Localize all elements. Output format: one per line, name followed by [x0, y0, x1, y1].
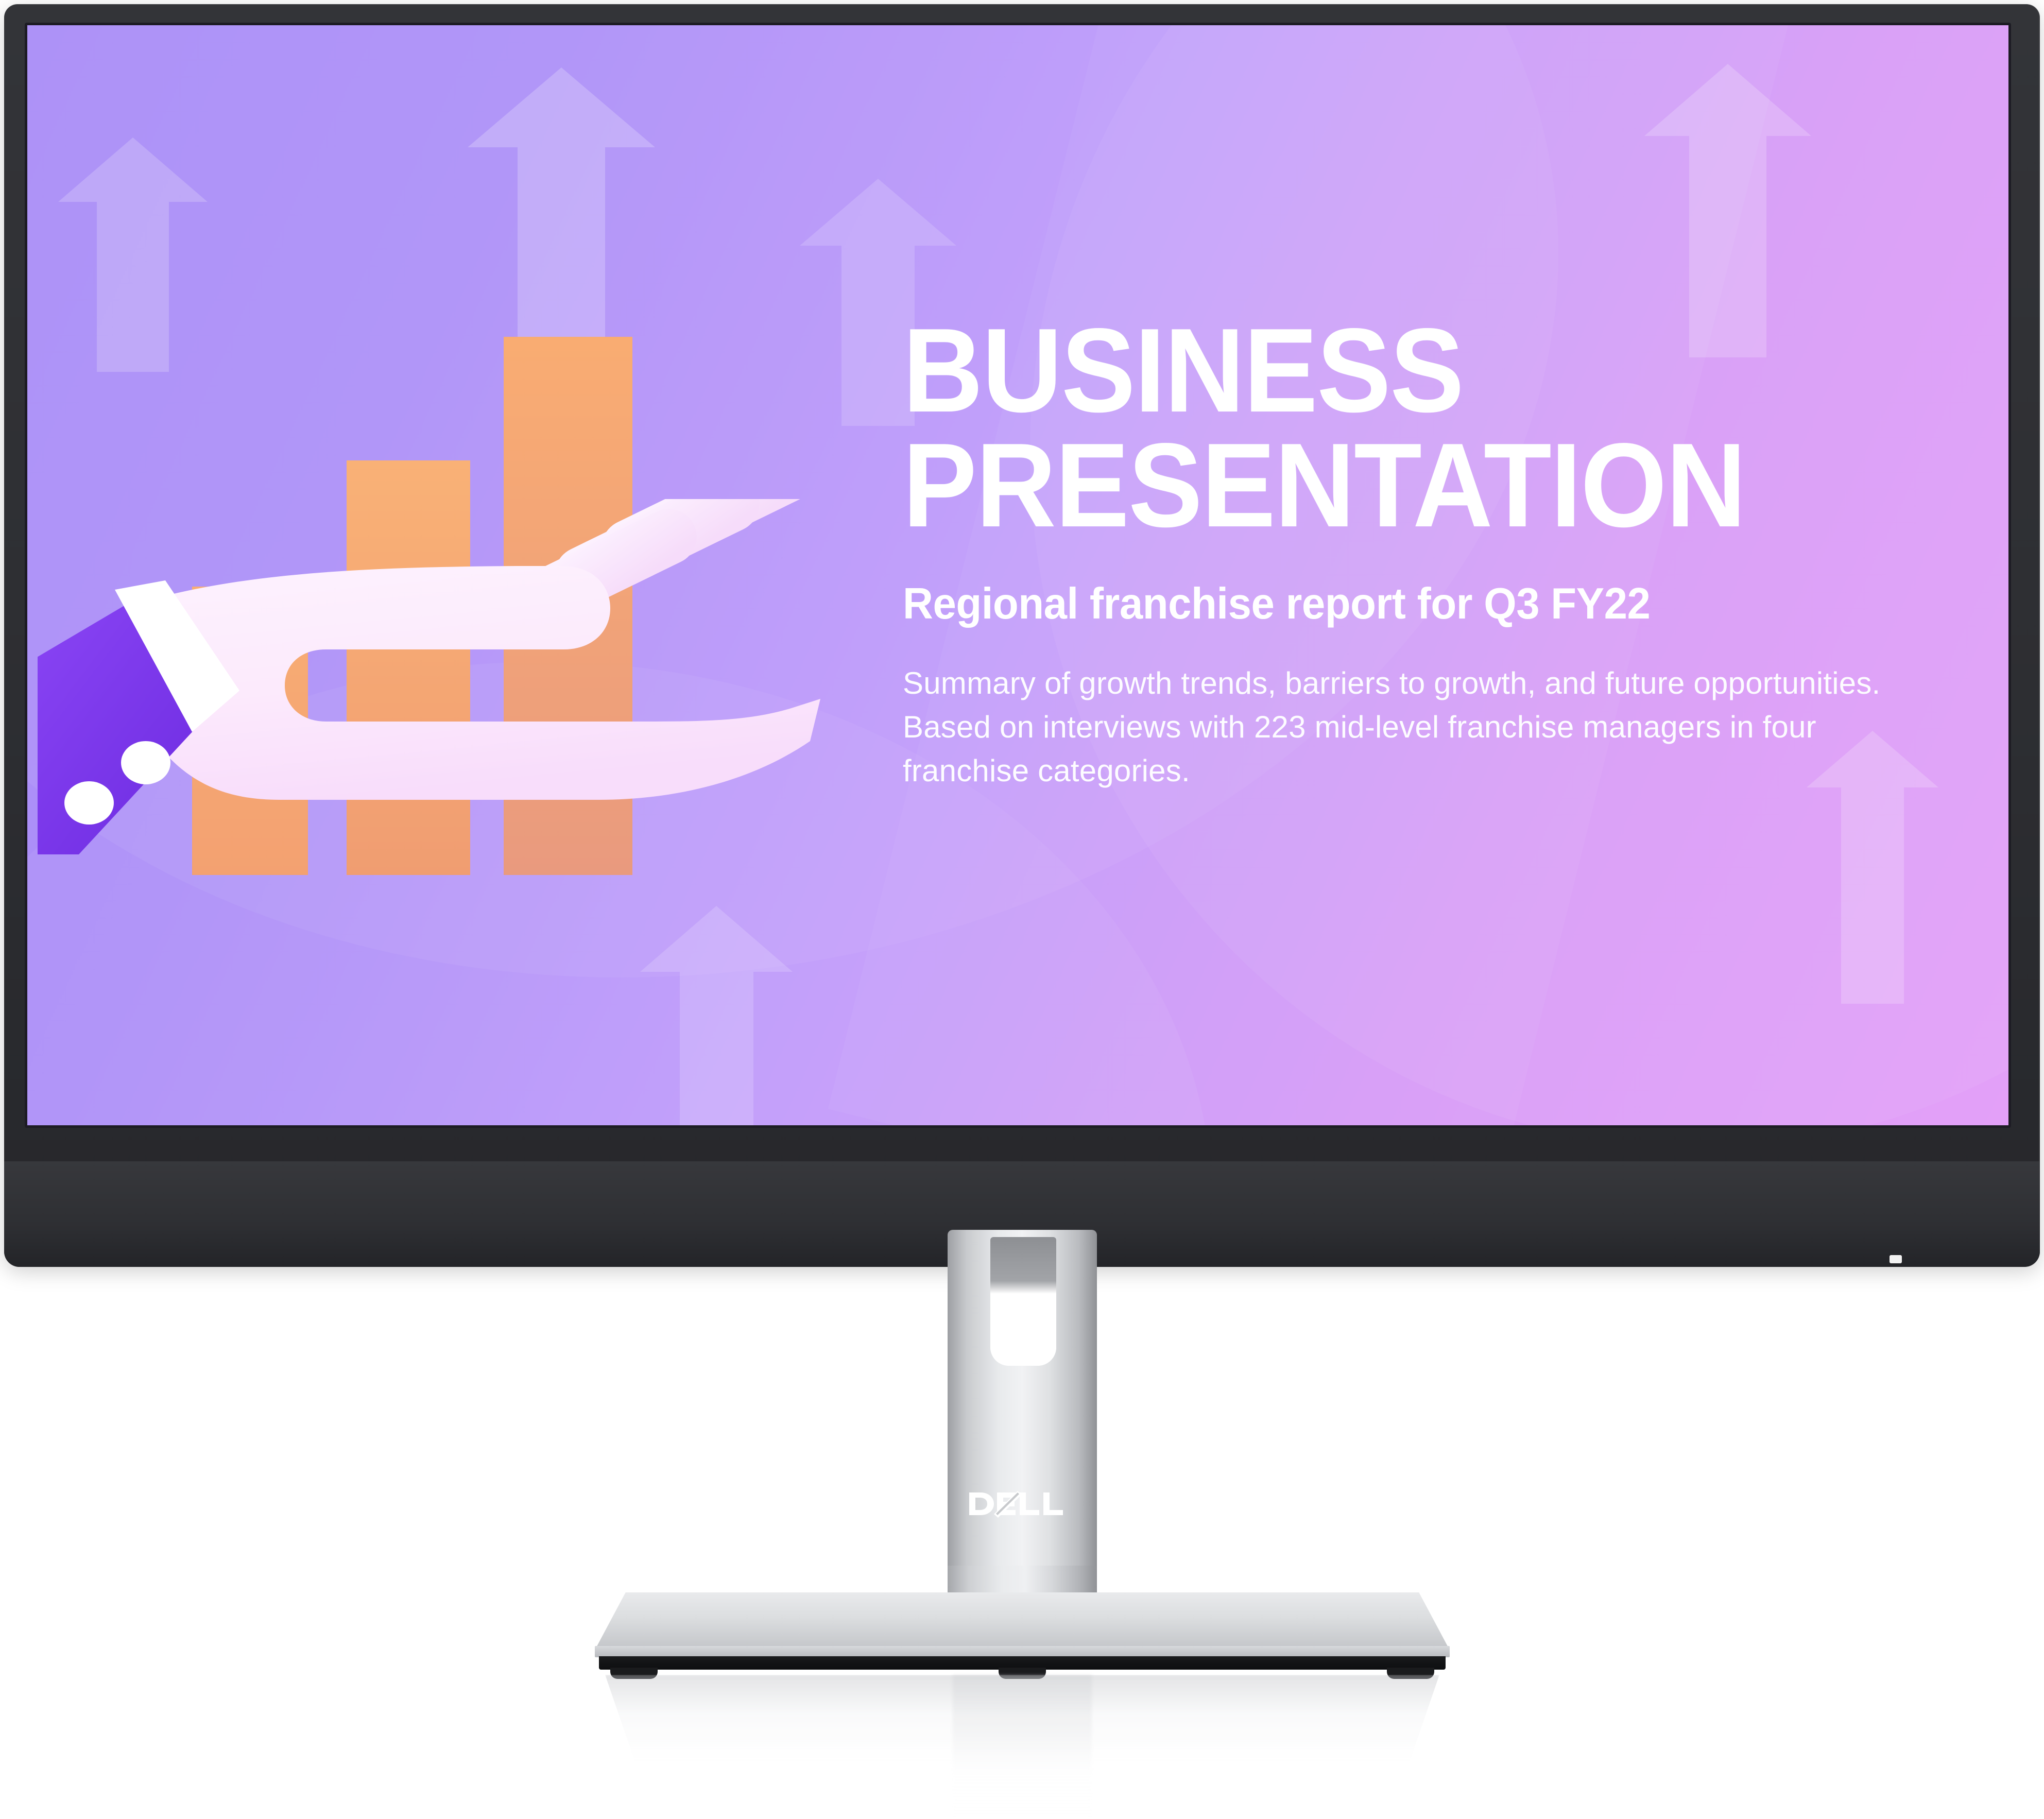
- slide-title-line-1: BUSINESS: [903, 304, 1463, 437]
- slide-text-block: BUSINESSPRESENTATION Regional franchise …: [903, 314, 1922, 793]
- monitor-stand-base: [595, 1592, 1450, 1658]
- arrow-shaft: [1841, 787, 1904, 1004]
- arrow-head: [468, 67, 655, 147]
- stand-base-top-surface: [595, 1592, 1450, 1650]
- page-title: BUSINESSPRESENTATION: [903, 314, 1851, 543]
- slide-title-line-2: PRESENTATION: [903, 419, 1745, 552]
- power-led-indicator[interactable]: [1890, 1255, 1902, 1263]
- hand-graphic: [38, 499, 872, 1014]
- dell-logo: DELL: [948, 1483, 1097, 1524]
- cable-management-hole-opening: [990, 1303, 1056, 1366]
- dell-monitor: BUSINESSPRESENTATION Regional franchise …: [0, 0, 2044, 1761]
- arrow-head: [1644, 64, 1811, 136]
- monitor-screen[interactable]: BUSINESSPRESENTATION Regional franchise …: [27, 25, 2008, 1125]
- sleeve-button-dot: [64, 781, 114, 825]
- stand-base-rim: [595, 1646, 1450, 1657]
- sleeve-button-dot: [121, 741, 170, 784]
- slide-subtitle: Regional franchise report for Q3 FY22: [903, 580, 1882, 628]
- hand-holding-growth-chart-illustration: [38, 180, 872, 1096]
- stand-column-reflection: [953, 1675, 1092, 1819]
- slide-body-text: Summary of growth trends, barriers to gr…: [903, 661, 1922, 793]
